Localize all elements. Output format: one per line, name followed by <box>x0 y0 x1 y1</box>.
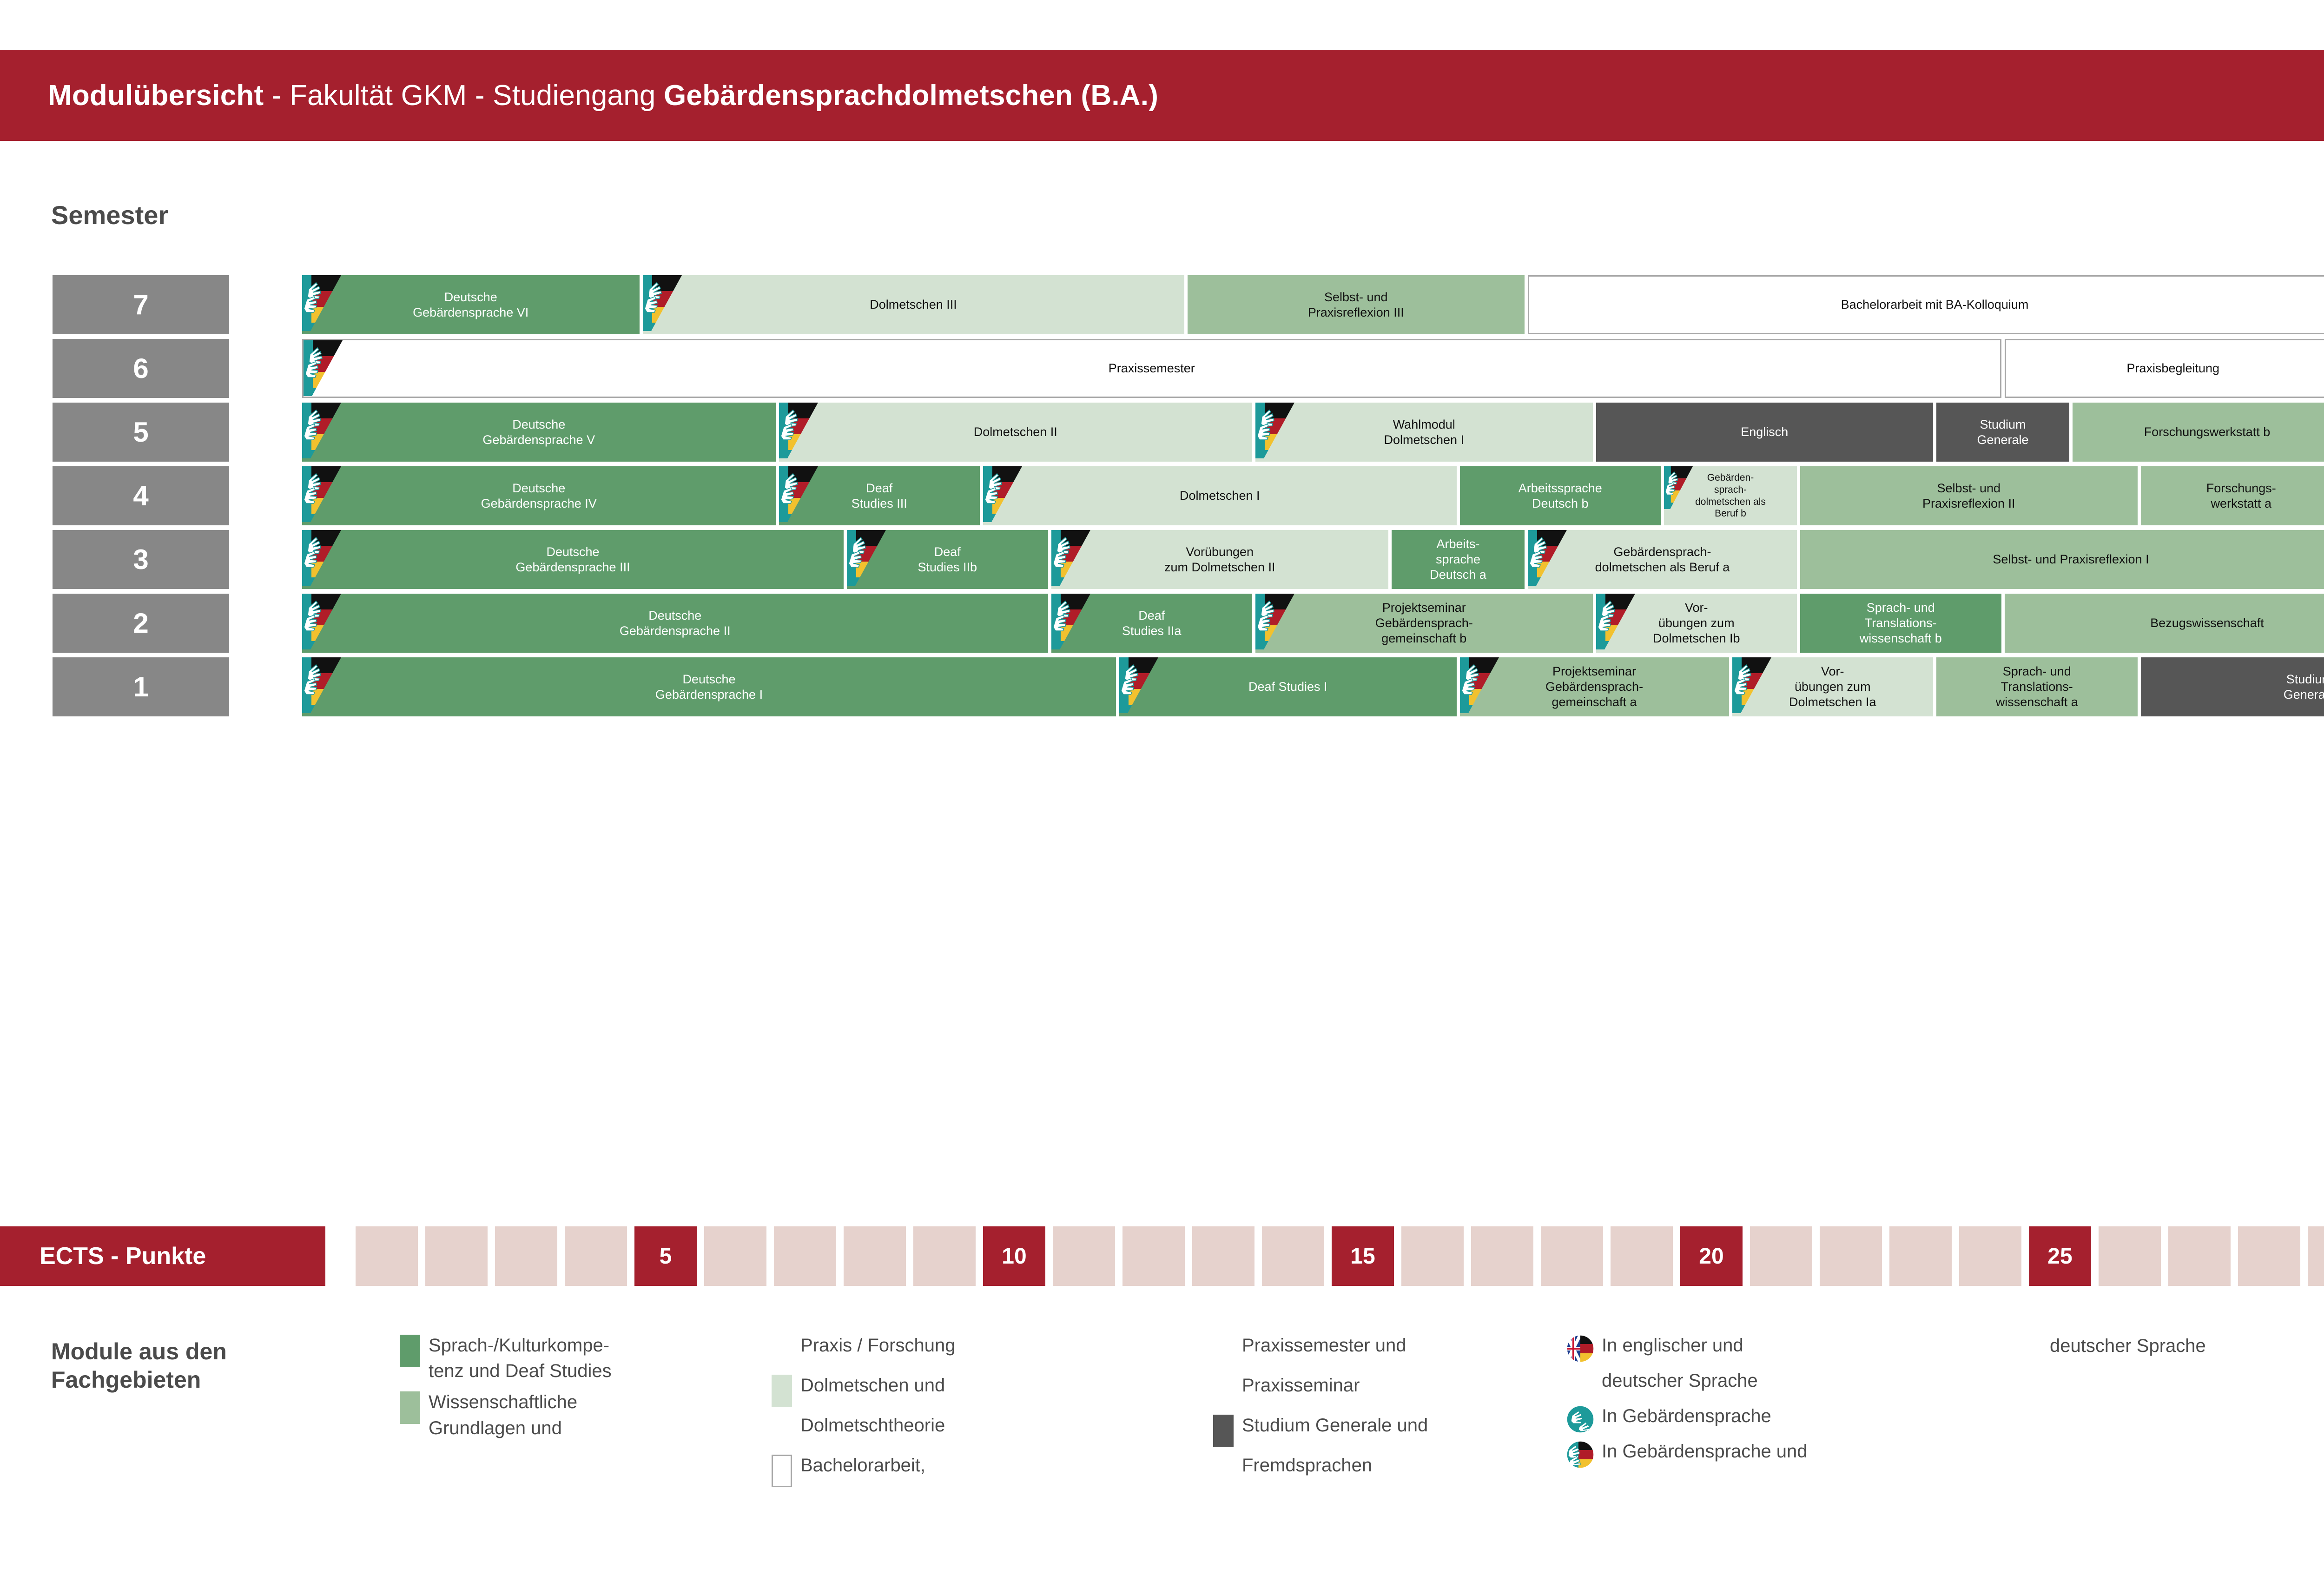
ects-cell <box>704 1226 766 1286</box>
module-box[interactable]: Sprach- undTranslations-wissenschaft b <box>1800 594 2001 653</box>
module-box[interactable]: Selbst- undPraxisreflexion II <box>1800 466 2138 525</box>
legend-item-label: Praxissemester und <box>1242 1333 1406 1358</box>
module-label: Praxissemester <box>1104 361 1200 376</box>
module-box[interactable]: Forschungswerkstatt b <box>2073 403 2324 462</box>
module-track: PraxissemesterPraxisbegleitung <box>302 339 2324 398</box>
legend-color-swatch <box>772 1455 792 1487</box>
sign-language-german-badge-icon <box>643 275 682 331</box>
ects-scale: 5101520253035 <box>356 1226 2324 1286</box>
semester-row: 2DeutscheGebärdensprache IIDeafStudies I… <box>0 594 2324 653</box>
module-label: DeutscheGebärdensprache V <box>478 417 600 448</box>
module-label: Sprach- undTranslations-wissenschaft a <box>1991 664 2083 710</box>
module-box[interactable]: Gebärden-sprach-dolmetschen alsBeruf b <box>1664 466 1797 525</box>
ects-cell <box>356 1226 418 1286</box>
module-label: DeutscheGebärdensprache IV <box>476 481 601 511</box>
legend-item: Praxis / Forschung <box>772 1333 955 1367</box>
module-label: Vorübungenzum Dolmetschen II <box>1160 544 1280 575</box>
module-label: Vor-übungen zumDolmetschen Ib <box>1648 600 1745 646</box>
ects-cell <box>844 1226 906 1286</box>
module-label: Forschungswerkstatt b <box>2139 424 2275 440</box>
ects-cell <box>1053 1226 1115 1286</box>
legend-color-swatch <box>1213 1455 1234 1487</box>
legend-item-label: Praxisseminar <box>1242 1373 1360 1398</box>
curriculum-grid: 7DeutscheGebärdensprache VIDolmetschen I… <box>0 275 2324 721</box>
semester-number-badge: 5 <box>53 403 229 462</box>
semester-caption: Semester <box>51 200 168 230</box>
legend-item: WissenschaftlicheGrundlagen und <box>400 1390 612 1441</box>
legend-color-swatch <box>1213 1335 1234 1367</box>
module-track: DeutscheGebärdensprache VIDolmetschen II… <box>302 275 2324 334</box>
module-box[interactable]: Praxissemester <box>302 339 2001 398</box>
module-box[interactable]: Bachelorarbeit mit BA-Kolloquium <box>1528 275 2324 334</box>
ects-cell <box>1401 1226 1464 1286</box>
legend-color-swatch <box>400 1391 420 1424</box>
title-part-bold-2: Gebärdensprachdolmetschen (B.A.) <box>664 79 1158 112</box>
sign-language-german-badge-icon <box>302 657 341 713</box>
sign-language-german-badge-icon <box>847 530 886 586</box>
module-label: StudiumGenerale <box>1972 417 2033 448</box>
legend-language-label: In Gebärdensprache und <box>1602 1439 1808 1464</box>
module-label: Praxisbegleitung <box>2122 361 2224 376</box>
module-label: Forschungs-werkstatt a <box>2202 481 2281 511</box>
sign-language-german-badge-icon <box>302 530 341 586</box>
module-box[interactable]: DeutscheGebärdensprache II <box>302 594 1048 653</box>
legend-item: Studium Generale und <box>1213 1413 1428 1447</box>
dgs-de-flag-icon <box>1566 1441 1594 1469</box>
legend-icon-placeholder <box>1566 1370 1594 1398</box>
title-part-bold-1: Modulübersicht <box>48 79 264 112</box>
module-box[interactable]: Gebärdensprach-dolmetschen als Beruf a <box>1528 530 1797 589</box>
uk-de-flag-icon <box>1566 1335 1594 1363</box>
module-box[interactable]: Vor-übungen zumDolmetschen Ib <box>1596 594 1797 653</box>
module-box[interactable]: StudiumGenerale <box>1936 403 2069 462</box>
sign-language-german-badge-icon <box>1596 594 1635 649</box>
title-part-plain: - Fakultät GKM - Studiengang <box>264 79 664 112</box>
semester-number-badge: 4 <box>53 466 229 525</box>
ects-cell <box>2099 1226 2161 1286</box>
module-label: Dolmetschen I <box>1175 488 1265 503</box>
module-box[interactable]: Dolmetschen III <box>643 275 1184 334</box>
sign-language-german-badge-icon <box>1051 530 1090 586</box>
legend-language-label: deutscher Sprache <box>1602 1368 1758 1394</box>
ects-cell <box>1122 1226 1185 1286</box>
sign-language-german-badge-icon <box>1255 594 1294 649</box>
module-box[interactable]: StudiumGenerale <box>2141 657 2324 716</box>
semester-row: 7DeutscheGebärdensprache VIDolmetschen I… <box>0 275 2324 334</box>
module-label: DeutscheGebärdensprache II <box>615 608 735 639</box>
legend-language-item: In Gebärdensprache <box>1566 1403 1808 1433</box>
sign-language-german-badge-icon <box>1255 403 1294 458</box>
legend-column-3: Praxissemester undPraxisseminarStudium G… <box>1213 1333 1428 1493</box>
module-box[interactable]: Vor-übungen zumDolmetschen Ia <box>1732 657 1934 716</box>
module-label: Dolmetschen II <box>969 424 1062 440</box>
module-box[interactable]: Sprach- undTranslations-wissenschaft a <box>1936 657 2138 716</box>
legend-item-label: Dolmetschtheorie <box>800 1413 945 1438</box>
ects-cell <box>565 1226 627 1286</box>
ects-label: ECTS - Punkte <box>0 1226 325 1286</box>
ects-cell <box>1889 1226 1952 1286</box>
module-label: Dolmetschen III <box>865 297 962 312</box>
legend-item: Dolmetschtheorie <box>772 1413 955 1447</box>
module-box[interactable]: ProjektseminarGebärdensprach-gemeinschaf… <box>1255 594 1593 653</box>
legend: Module aus denFachgebieten Sprach-/Kultu… <box>0 1327 2324 1569</box>
module-box[interactable]: WahlmodulDolmetschen I <box>1255 403 1593 462</box>
legend-color-swatch <box>1213 1415 1234 1447</box>
sign-language-german-badge-icon <box>302 466 341 522</box>
module-box[interactable]: Bezugswissenschaft <box>2005 594 2324 653</box>
module-label: Englisch <box>1736 424 1793 440</box>
ects-cell <box>2168 1226 2231 1286</box>
module-label: DeafStudies III <box>847 481 912 511</box>
module-label: DeafStudies IIa <box>1117 608 1186 639</box>
module-label: DeutscheGebärdensprache I <box>651 672 767 702</box>
legend-column-1: Sprach-/Kulturkompe-tenz und Deaf Studie… <box>400 1333 612 1447</box>
ects-cell <box>1192 1226 1254 1286</box>
module-track: DeutscheGebärdensprache IIDeafStudies II… <box>302 594 2324 653</box>
semester-row: 4DeutscheGebärdensprache IVDeafStudies I… <box>0 466 2324 525</box>
ects-marker-cell: 25 <box>2029 1226 2091 1286</box>
module-box[interactable]: DeafStudies IIa <box>1051 594 1253 653</box>
page-title: Modulübersicht - Fakultät GKM - Studieng… <box>0 79 1158 112</box>
module-label: ProjektseminarGebärdensprach-gemeinschaf… <box>1371 600 1478 646</box>
legend-language-item: In englischer und <box>1566 1333 1808 1363</box>
legend-item-label: Dolmetschen und <box>800 1373 945 1398</box>
semester-number-badge: 6 <box>53 339 229 398</box>
module-box[interactable]: ArbeitsspracheDeutsch b <box>1460 466 1661 525</box>
module-box[interactable]: Selbst- undPraxisreflexion III <box>1188 275 1525 334</box>
semester-number-badge: 2 <box>53 594 229 653</box>
sign-language-german-badge-icon <box>1119 657 1158 713</box>
module-box[interactable]: DeutscheGebärdensprache V <box>302 403 776 462</box>
ects-cell <box>1611 1226 1673 1286</box>
sign-language-german-badge-icon <box>779 403 818 458</box>
ects-cell <box>1471 1226 1533 1286</box>
module-label: Selbst- undPraxisreflexion II <box>1918 481 2020 511</box>
sign-language-german-badge-icon <box>1732 657 1771 713</box>
module-track: DeutscheGebärdensprache VDolmetschen IIW… <box>302 403 2324 462</box>
module-box[interactable]: DeutscheGebärdensprache VI <box>302 275 640 334</box>
legend-item-label: Bachelorarbeit, <box>800 1453 925 1478</box>
sign-language-german-badge-icon <box>302 403 341 458</box>
semester-number-badge: 3 <box>53 530 229 589</box>
legend-color-swatch <box>772 1415 792 1447</box>
module-label: Bezugswissenschaft <box>2146 616 2269 631</box>
module-label: Gebärden-sprach-dolmetschen alsBeruf b <box>1690 472 1770 519</box>
legend-column-2: Praxis / ForschungDolmetschen undDolmets… <box>772 1333 955 1493</box>
module-label: WahlmodulDolmetschen I <box>1379 417 1469 448</box>
module-box[interactable]: Praxisbegleitung <box>2005 339 2324 398</box>
legend-item-label: Studium Generale und <box>1242 1413 1428 1438</box>
ects-bar: ECTS - Punkte 5101520253035 <box>0 1226 2324 1286</box>
legend-item: Praxisseminar <box>1213 1373 1428 1407</box>
module-box[interactable]: Deaf Studies I <box>1119 657 1457 716</box>
module-label: ArbeitsspracheDeutsch b <box>1514 481 1607 511</box>
legend-color-swatch <box>772 1375 792 1407</box>
sign-language-icon <box>1566 1405 1594 1433</box>
legend-color-swatch <box>1213 1375 1234 1407</box>
ects-marker-cell: 20 <box>1680 1226 1743 1286</box>
sign-language-german-badge-icon <box>1664 466 1693 509</box>
module-label: ProjektseminarGebärdensprach-gemeinschaf… <box>1541 664 1648 710</box>
ects-cell <box>495 1226 557 1286</box>
module-box[interactable]: DeutscheGebärdensprache III <box>302 530 844 589</box>
legend-color-swatch <box>400 1335 420 1367</box>
ects-cell <box>2308 1226 2324 1286</box>
ects-cell <box>1959 1226 2021 1286</box>
legend-item: Fremdsprachen <box>1213 1453 1428 1487</box>
legend-title: Module aus denFachgebieten <box>51 1337 353 1394</box>
module-box[interactable]: Dolmetschen I <box>983 466 1457 525</box>
ects-cell <box>425 1226 488 1286</box>
semester-row: 1DeutscheGebärdensprache IDeaf Studies I… <box>0 657 2324 716</box>
module-track: DeutscheGebärdensprache IDeaf Studies IP… <box>302 657 2324 716</box>
ects-cell <box>1262 1226 1324 1286</box>
legend-column-5-text: deutscher Sprache <box>2050 1336 2206 1357</box>
ects-cell <box>1750 1226 1812 1286</box>
legend-color-swatch <box>772 1335 792 1367</box>
module-box[interactable]: ProjektseminarGebärdensprach-gemeinschaf… <box>1460 657 1729 716</box>
semester-row: 5DeutscheGebärdensprache VDolmetschen II… <box>0 403 2324 462</box>
module-label: Bachelorarbeit mit BA-Kolloquium <box>1836 297 2033 312</box>
sign-language-german-badge-icon <box>1460 657 1499 713</box>
module-track: DeutscheGebärdensprache IIIDeafStudies I… <box>302 530 2324 589</box>
module-label: Selbst- undPraxisreflexion III <box>1303 290 1409 320</box>
sign-language-german-badge-icon <box>983 466 1022 522</box>
legend-item: Dolmetschen und <box>772 1373 955 1407</box>
module-label: Gebärdensprach-dolmetschen als Beruf a <box>1591 544 1735 575</box>
module-box[interactable]: DeutscheGebärdensprache I <box>302 657 1116 716</box>
legend-item-label: Praxis / Forschung <box>800 1333 955 1358</box>
sign-language-german-badge-icon <box>779 466 818 522</box>
ects-marker-cell: 10 <box>983 1226 1045 1286</box>
header-bar: Modulübersicht - Fakultät GKM - Studieng… <box>0 50 2324 141</box>
module-box[interactable]: Selbst- und Praxisreflexion I <box>1800 530 2324 589</box>
module-box[interactable]: Englisch <box>1596 403 1934 462</box>
module-label: StudiumGenerale <box>2279 672 2324 702</box>
ects-cell <box>2238 1226 2300 1286</box>
legend-language-item: deutscher Sprache <box>1566 1368 1808 1398</box>
sign-language-german-badge-icon <box>302 594 341 649</box>
sign-language-german-badge-icon <box>302 275 341 331</box>
module-label: DeutscheGebärdensprache VI <box>408 290 533 320</box>
sign-language-german-badge-icon <box>1528 530 1567 586</box>
legend-column-4: In englischer unddeutscher SpracheIn Geb… <box>1566 1333 1808 1474</box>
ects-cell <box>1820 1226 1882 1286</box>
semester-row: 3DeutscheGebärdensprache IIIDeafStudies … <box>0 530 2324 589</box>
ects-cell <box>913 1226 976 1286</box>
ects-marker-cell: 5 <box>634 1226 697 1286</box>
ects-cell <box>1541 1226 1603 1286</box>
legend-language-label: In englischer und <box>1602 1333 1743 1358</box>
module-box[interactable]: Dolmetschen II <box>779 403 1253 462</box>
ects-cell <box>774 1226 836 1286</box>
ects-marker-cell: 15 <box>1332 1226 1394 1286</box>
module-label: DeutscheGebärdensprache III <box>511 544 634 575</box>
module-label: Deaf Studies I <box>1244 679 1332 695</box>
module-box[interactable]: DeafStudies III <box>779 466 980 525</box>
module-label: Sprach- undTranslations-wissenschaft b <box>1855 600 1947 646</box>
legend-item: Praxissemester und <box>1213 1333 1428 1367</box>
module-box[interactable]: DeutscheGebärdensprache IV <box>302 466 776 525</box>
module-label: Arbeits-spracheDeutsch a <box>1425 536 1491 583</box>
legend-language-label: In Gebärdensprache <box>1602 1403 1771 1429</box>
semester-number-badge: 7 <box>53 275 229 334</box>
module-box[interactable]: Vorübungenzum Dolmetschen II <box>1051 530 1389 589</box>
legend-item-label: WissenschaftlicheGrundlagen und <box>429 1390 577 1441</box>
sign-language-german-badge-icon <box>1051 594 1090 649</box>
semester-row: 6PraxissemesterPraxisbegleitung <box>0 339 2324 398</box>
legend-language-item: In Gebärdensprache und <box>1566 1439 1808 1469</box>
module-label: Vor-übungen zumDolmetschen Ia <box>1784 664 1881 710</box>
module-track: DeutscheGebärdensprache IVDeafStudies II… <box>302 466 2324 525</box>
legend-item-label: Sprach-/Kulturkompe-tenz und Deaf Studie… <box>429 1333 612 1384</box>
module-box[interactable]: Forschungs-werkstatt a <box>2141 466 2324 525</box>
module-label: Selbst- und Praxisreflexion I <box>1988 552 2153 567</box>
legend-item: Bachelorarbeit, <box>772 1453 955 1487</box>
legend-item: Sprach-/Kulturkompe-tenz und Deaf Studie… <box>400 1333 612 1384</box>
module-label: DeafStudies IIb <box>913 544 982 575</box>
semester-number-badge: 1 <box>53 657 229 716</box>
legend-item-label: Fremdsprachen <box>1242 1453 1372 1478</box>
module-box[interactable]: Arbeits-spracheDeutsch a <box>1392 530 1525 589</box>
module-box[interactable]: DeafStudies IIb <box>847 530 1048 589</box>
sign-language-german-badge-icon <box>304 340 343 396</box>
